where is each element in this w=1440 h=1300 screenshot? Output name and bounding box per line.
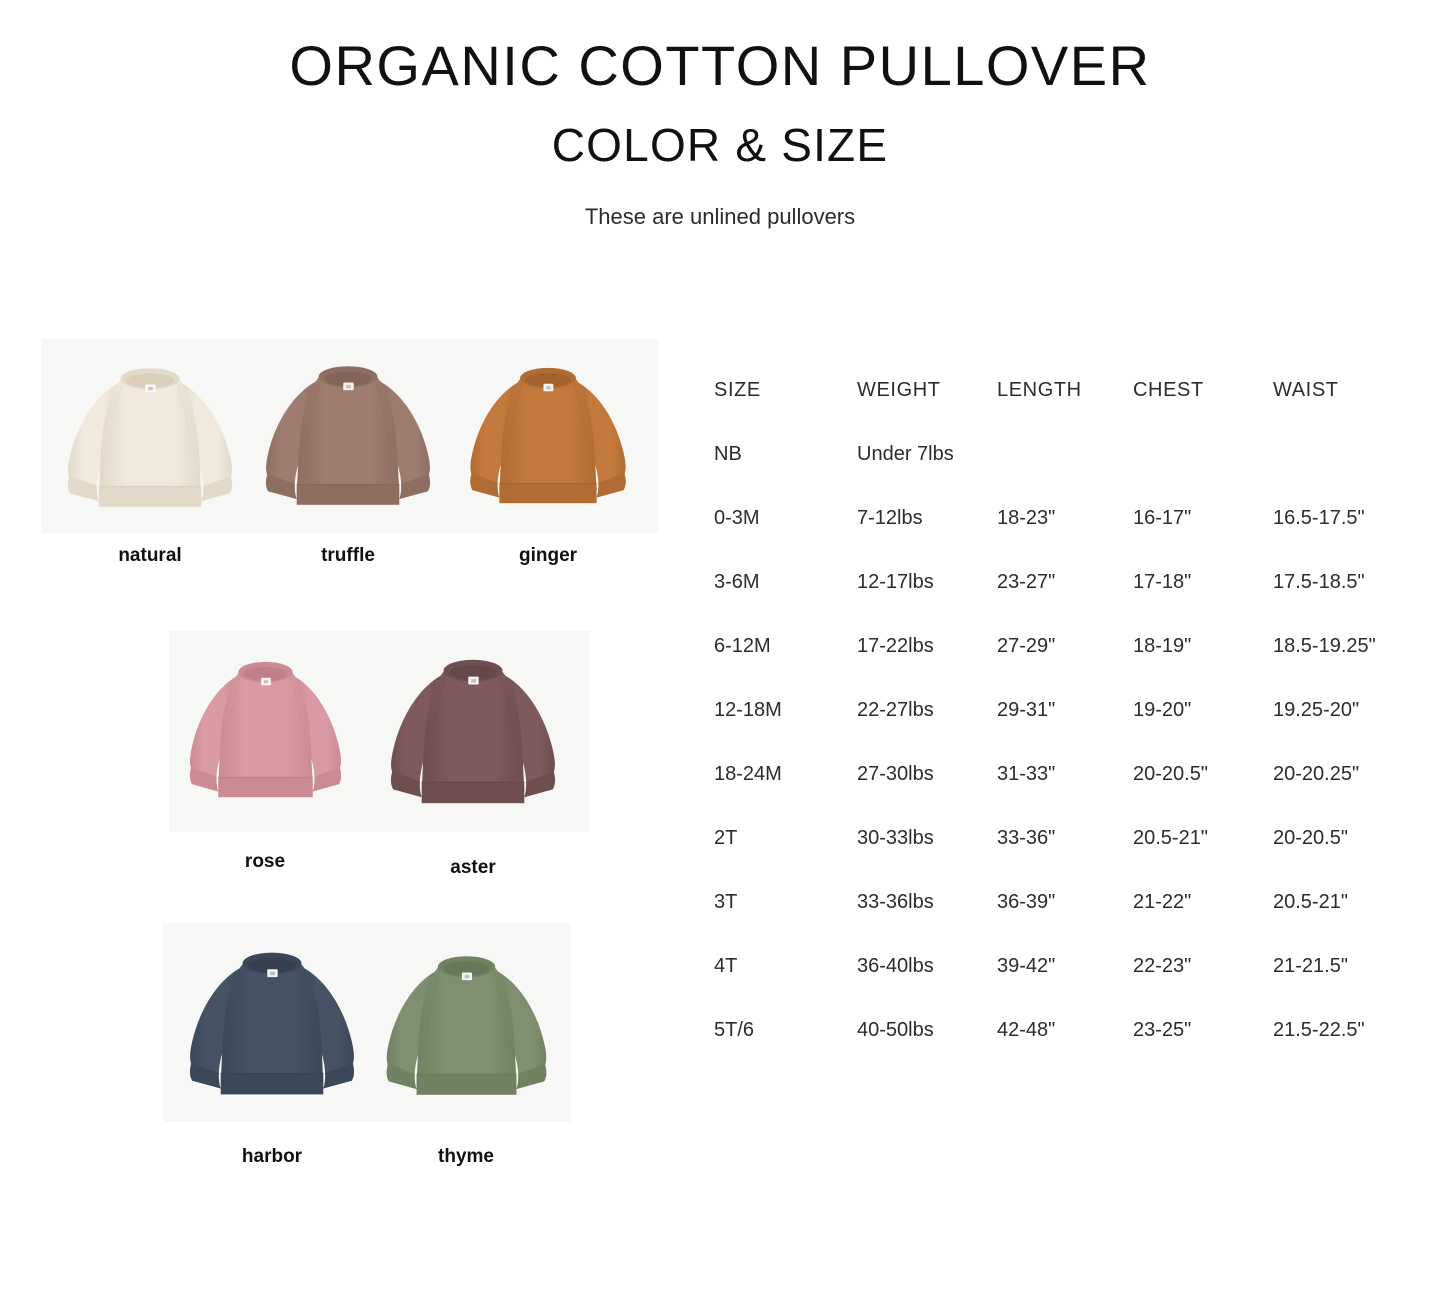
page-note: These are unlined pullovers <box>0 206 1440 228</box>
cell-waist: 21.5-22.5" <box>1273 1018 1414 1042</box>
size-chart-table: SIZE WEIGHT LENGTH CHEST WAIST NBUnder 7… <box>714 378 1414 1082</box>
garment-image-harbor[interactable] <box>177 936 367 1112</box>
table-row: 6-12M17-22lbs27-29"18-19"18.5-19.25" <box>714 634 1414 698</box>
column-header-chest: CHEST <box>1133 378 1273 402</box>
cell-chest: 20-20.5" <box>1133 762 1273 786</box>
cell-size: 0-3M <box>714 506 857 530</box>
cell-length: 42-48" <box>997 1018 1133 1042</box>
cell-waist: 19.25-20" <box>1273 698 1414 722</box>
pullover-icon <box>378 643 568 821</box>
cell-waist: 20-20.5" <box>1273 826 1414 850</box>
cell-size: 3T <box>714 890 857 914</box>
cell-weight: 40-50lbs <box>857 1018 997 1042</box>
cell-weight: 36-40lbs <box>857 954 997 978</box>
table-row: 2T30-33lbs33-36"20.5-21"20-20.5" <box>714 826 1414 890</box>
table-row: 3-6M12-17lbs23-27"17-18"17.5-18.5" <box>714 570 1414 634</box>
table-body: NBUnder 7lbs0-3M7-12lbs18-23"16-17"16.5-… <box>714 442 1414 1082</box>
garment-image-rose[interactable] <box>178 646 353 814</box>
table-row: 3T33-36lbs36-39"21-22"20.5-21" <box>714 890 1414 954</box>
cell-size: 12-18M <box>714 698 857 722</box>
page-subtitle: COLOR & SIZE <box>0 122 1440 168</box>
page-title: ORGANIC COTTON PULLOVER <box>0 38 1440 94</box>
cell-chest: 22-23" <box>1133 954 1273 978</box>
garment-image-truffle[interactable] <box>253 350 443 522</box>
cell-waist: 21-21.5" <box>1273 954 1414 978</box>
table-row: 12-18M22-27lbs29-31"19-20"19.25-20" <box>714 698 1414 762</box>
color-label-truffle: truffle <box>321 545 375 567</box>
table-header-row: SIZE WEIGHT LENGTH CHEST WAIST <box>714 378 1414 442</box>
page-header: ORGANIC COTTON PULLOVER COLOR & SIZE The… <box>0 0 1440 228</box>
cell-length: 27-29" <box>997 634 1133 658</box>
cell-chest: 20.5-21" <box>1133 826 1273 850</box>
color-label-natural: natural <box>118 545 181 567</box>
cell-weight: 27-30lbs <box>857 762 997 786</box>
cell-waist: 17.5-18.5" <box>1273 570 1414 594</box>
color-label-aster: aster <box>450 857 495 879</box>
cell-chest: 19-20" <box>1133 698 1273 722</box>
cell-weight: 7-12lbs <box>857 506 997 530</box>
color-label-rose: rose <box>245 851 285 873</box>
cell-length: 36-39" <box>997 890 1133 914</box>
cell-length: 33-36" <box>997 826 1133 850</box>
pullover-icon <box>458 352 638 520</box>
cell-chest: 17-18" <box>1133 570 1273 594</box>
cell-chest: 16-17" <box>1133 506 1273 530</box>
cell-weight: Under 7lbs <box>857 442 997 466</box>
cell-length: 18-23" <box>997 506 1133 530</box>
cell-waist: 18.5-19.25" <box>1273 634 1414 658</box>
cell-waist: 20.5-21" <box>1273 890 1414 914</box>
cell-chest: 23-25" <box>1133 1018 1273 1042</box>
cell-weight: 12-17lbs <box>857 570 997 594</box>
cell-size: 3-6M <box>714 570 857 594</box>
cell-weight: 17-22lbs <box>857 634 997 658</box>
column-header-waist: WAIST <box>1273 378 1414 402</box>
pullover-icon <box>374 940 559 1112</box>
pullover-icon <box>177 936 367 1112</box>
column-header-weight: WEIGHT <box>857 378 997 402</box>
color-label-ginger: ginger <box>519 545 577 567</box>
cell-size: 6-12M <box>714 634 857 658</box>
garment-image-natural[interactable] <box>55 352 245 524</box>
garment-image-aster[interactable] <box>378 643 568 821</box>
pullover-icon <box>55 352 245 524</box>
cell-weight: 33-36lbs <box>857 890 997 914</box>
table-row: 4T36-40lbs39-42"22-23"21-21.5" <box>714 954 1414 1018</box>
pullover-icon <box>178 646 353 814</box>
garment-image-thyme[interactable] <box>374 940 559 1112</box>
cell-size: 5T/6 <box>714 1018 857 1042</box>
color-label-thyme: thyme <box>438 1146 494 1168</box>
pullover-icon <box>253 350 443 522</box>
table-row: 18-24M27-30lbs31-33"20-20.5"20-20.25" <box>714 762 1414 826</box>
cell-size: 2T <box>714 826 857 850</box>
garment-image-ginger[interactable] <box>458 352 638 520</box>
table-row: 0-3M7-12lbs18-23"16-17"16.5-17.5" <box>714 506 1414 570</box>
column-header-length: LENGTH <box>997 378 1133 402</box>
cell-length: 23-27" <box>997 570 1133 594</box>
cell-length: 29-31" <box>997 698 1133 722</box>
cell-weight: 30-33lbs <box>857 826 997 850</box>
table-row: NBUnder 7lbs <box>714 442 1414 506</box>
cell-size: NB <box>714 442 857 466</box>
column-header-size: SIZE <box>714 378 857 402</box>
cell-chest: 18-19" <box>1133 634 1273 658</box>
cell-size: 18-24M <box>714 762 857 786</box>
cell-size: 4T <box>714 954 857 978</box>
cell-chest: 21-22" <box>1133 890 1273 914</box>
cell-waist: 20-20.25" <box>1273 762 1414 786</box>
table-row: 5T/640-50lbs42-48"23-25"21.5-22.5" <box>714 1018 1414 1082</box>
cell-length: 39-42" <box>997 954 1133 978</box>
color-label-harbor: harbor <box>242 1146 302 1168</box>
cell-waist: 16.5-17.5" <box>1273 506 1414 530</box>
cell-length: 31-33" <box>997 762 1133 786</box>
cell-weight: 22-27lbs <box>857 698 997 722</box>
